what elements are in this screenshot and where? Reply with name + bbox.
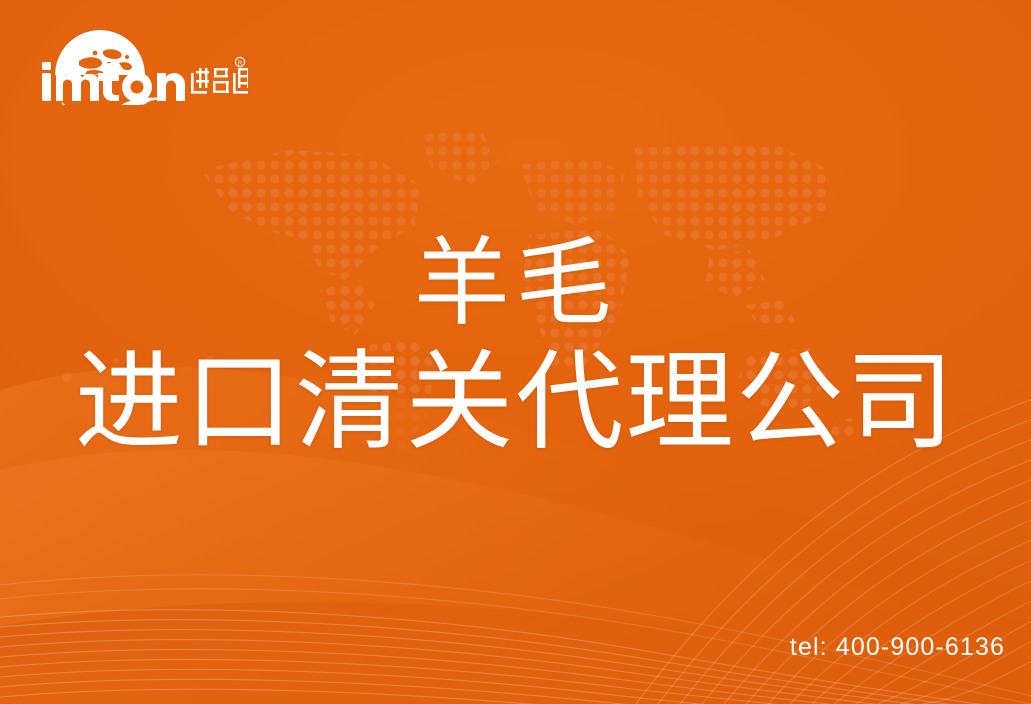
headline-block: 羊毛 进口清关代理公司	[0, 228, 1031, 464]
contact-phone[interactable]: tel: 400-900-6136	[790, 632, 1005, 662]
promo-banner: R 羊毛 进口清关代理公司 tel: 400-900-6136	[0, 0, 1031, 704]
brand-logo[interactable]: R	[33, 27, 248, 105]
headline-line-1: 羊毛	[0, 228, 1031, 340]
globe-arc-icon	[55, 30, 145, 75]
logo-wordmark-chinese	[191, 68, 248, 94]
svg-text:R: R	[238, 61, 243, 67]
headline-line-2: 进口清关代理公司	[0, 340, 1031, 464]
registered-trademark-icon: R	[235, 57, 244, 67]
